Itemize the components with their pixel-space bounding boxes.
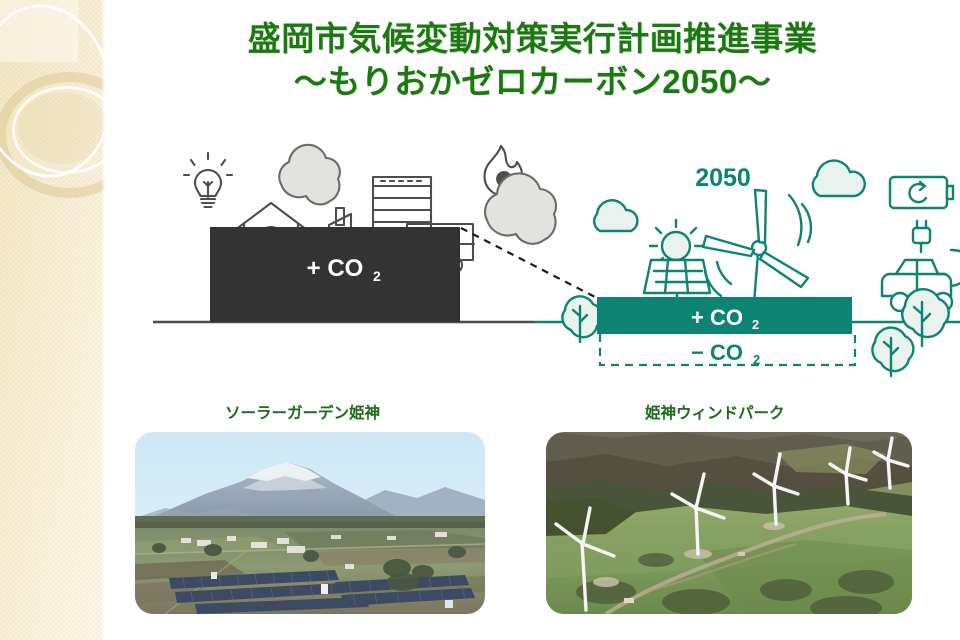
title-line-2: ～もりおかゼロカーボン2050～: [105, 63, 960, 102]
future-co2-positive-label: + CO: [691, 305, 743, 330]
tree-icon: [562, 296, 601, 342]
co2-infographic: .ln{fill:none;stroke:#4d4d4d;stroke-widt…: [105, 120, 960, 390]
photo-caption-wind: 姫神ウィンドパーク: [645, 401, 785, 423]
page-title: 盛岡市気候変動対策実行計画推進事業 ～もりおかゼロカーボン2050～: [105, 20, 960, 102]
battery-recycle-icon: [890, 177, 953, 208]
present-co2-subscript: 2: [373, 268, 381, 284]
decorative-side-band: [0, 0, 105, 640]
solar-garden-himekami-photo: [135, 432, 485, 614]
lightbulb-icon: [184, 153, 232, 207]
cloud-icon: [594, 200, 637, 231]
year-label: 2050: [695, 164, 751, 192]
title-line-1: 盛岡市気候変動対策実行計画推進事業: [105, 20, 960, 59]
cloud-icon: [813, 161, 865, 196]
smoke-cloud-icon: [279, 145, 340, 205]
future-co2-negative-subscript: 2: [753, 352, 760, 367]
future-co2-positive-subscript: 2: [752, 317, 759, 332]
tree-icon: [872, 328, 913, 376]
himekami-wind-park-photo: [546, 432, 912, 614]
future-negative-co2-box: − CO 2: [600, 334, 855, 367]
photo-caption-solar: ソーラーガーデン姫神: [225, 401, 380, 423]
future-co2-block: + CO 2: [597, 297, 852, 334]
presentation-slide: 盛岡市気候変動対策実行計画推進事業 ～もりおかゼロカーボン2050～ .ln{f…: [0, 0, 960, 640]
present-co2-block: + CO 2: [210, 227, 460, 322]
future-co2-negative-label: − CO: [691, 340, 743, 365]
present-co2-label: + CO: [307, 255, 364, 282]
